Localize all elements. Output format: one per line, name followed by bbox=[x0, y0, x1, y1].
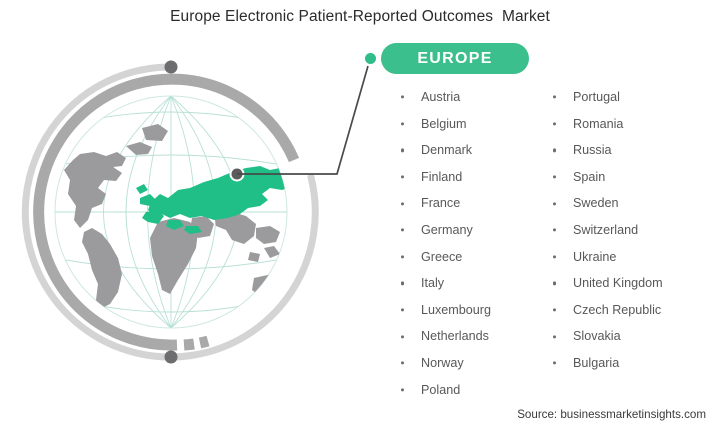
bullet-icon bbox=[553, 229, 556, 232]
country-list-item: Bulgaria bbox=[545, 350, 713, 377]
country-list-item: Czech Republic bbox=[545, 297, 713, 324]
map-pin-dot-icon bbox=[231, 168, 244, 181]
bullet-icon bbox=[553, 335, 556, 338]
bullet-icon bbox=[401, 282, 404, 285]
country-name: Romania bbox=[573, 117, 623, 131]
bullet-icon bbox=[553, 282, 556, 285]
country-name: Slovakia bbox=[573, 329, 621, 343]
countries-column-2: PortugalRomaniaRussiaSpainSwedenSwitzerl… bbox=[545, 84, 713, 403]
bullet-icon bbox=[401, 96, 404, 99]
country-list-item: Germany bbox=[393, 217, 545, 244]
bullet-icon bbox=[553, 362, 556, 365]
country-list-item: Belgium bbox=[393, 111, 545, 138]
region-badge-europe[interactable]: EUROPE bbox=[381, 43, 529, 74]
country-list-item: Luxembourg bbox=[393, 297, 545, 324]
country-list-item: France bbox=[393, 190, 545, 217]
country-name: Finland bbox=[421, 170, 462, 184]
bullet-icon bbox=[401, 255, 404, 258]
country-name: Sweden bbox=[573, 196, 619, 210]
bullet-icon bbox=[401, 202, 404, 205]
country-name: United Kingdom bbox=[573, 276, 663, 290]
globe-illustration bbox=[18, 42, 330, 387]
bullet-icon bbox=[553, 175, 556, 178]
country-list-item: Netherlands bbox=[393, 323, 545, 350]
ring-dot-bottom bbox=[165, 351, 178, 364]
page-title: Europe Electronic Patient-Reported Outco… bbox=[0, 8, 720, 26]
country-name: Greece bbox=[421, 250, 462, 264]
inner-ring-ticks bbox=[184, 341, 208, 345]
country-list-item: Switzerland bbox=[545, 217, 713, 244]
country-name: Luxembourg bbox=[421, 303, 491, 317]
countries-column-1: AustriaBelgiumDenmarkFinlandFranceGerman… bbox=[393, 84, 545, 403]
ring-dot-top bbox=[165, 61, 178, 74]
country-list-item: Ukraine bbox=[545, 244, 713, 271]
region-badge-label: EUROPE bbox=[417, 50, 492, 68]
bullet-icon bbox=[401, 229, 404, 232]
country-name: Czech Republic bbox=[573, 303, 661, 317]
country-lists: AustriaBelgiumDenmarkFinlandFranceGerman… bbox=[393, 84, 713, 403]
bullet-icon bbox=[401, 335, 404, 338]
country-name: Netherlands bbox=[421, 329, 489, 343]
country-list-item: Finland bbox=[393, 164, 545, 191]
country-list-item: Austria bbox=[393, 84, 545, 111]
bullet-icon bbox=[401, 362, 404, 365]
badge-anchor-dot-icon bbox=[365, 53, 376, 64]
bullet-icon bbox=[401, 122, 404, 125]
country-name: Denmark bbox=[421, 143, 472, 157]
country-list-item: Slovakia bbox=[545, 323, 713, 350]
country-name: Norway bbox=[421, 356, 464, 370]
country-list-item: Spain bbox=[545, 164, 713, 191]
country-name: Poland bbox=[421, 383, 460, 397]
country-name: France bbox=[421, 196, 460, 210]
country-name: Ukraine bbox=[573, 250, 616, 264]
country-name: Portugal bbox=[573, 90, 620, 104]
bullet-icon bbox=[553, 96, 556, 99]
country-name: Spain bbox=[573, 170, 605, 184]
country-name: Germany bbox=[421, 223, 473, 237]
globe-svg bbox=[18, 42, 330, 387]
country-list-item: Russia bbox=[545, 137, 713, 164]
bullet-icon bbox=[401, 388, 404, 391]
country-name: Belgium bbox=[421, 117, 467, 131]
country-list-item: Denmark bbox=[393, 137, 545, 164]
country-list-item: United Kingdom bbox=[545, 270, 713, 297]
bullet-icon bbox=[553, 149, 556, 152]
bullet-icon bbox=[553, 202, 556, 205]
source-attribution: Source: businessmarketinsights.com bbox=[517, 408, 706, 421]
country-name: Switzerland bbox=[573, 223, 638, 237]
country-name: Austria bbox=[421, 90, 460, 104]
country-name: Italy bbox=[421, 276, 444, 290]
bullet-icon bbox=[401, 175, 404, 178]
country-name: Russia bbox=[573, 143, 612, 157]
country-list-item: Italy bbox=[393, 270, 545, 297]
infographic-root: Europe Electronic Patient-Reported Outco… bbox=[0, 0, 720, 430]
country-list-item: Sweden bbox=[545, 190, 713, 217]
bullet-icon bbox=[553, 255, 556, 258]
bullet-icon bbox=[401, 149, 404, 152]
country-list-item: Portugal bbox=[545, 84, 713, 111]
bullet-icon bbox=[553, 308, 556, 311]
bullet-icon bbox=[553, 122, 556, 125]
bullet-icon bbox=[401, 308, 404, 311]
country-list-item: Romania bbox=[545, 111, 713, 138]
country-list-item: Poland bbox=[393, 377, 545, 404]
country-list-item: Norway bbox=[393, 350, 545, 377]
country-name: Bulgaria bbox=[573, 356, 619, 370]
country-list-item: Greece bbox=[393, 244, 545, 271]
